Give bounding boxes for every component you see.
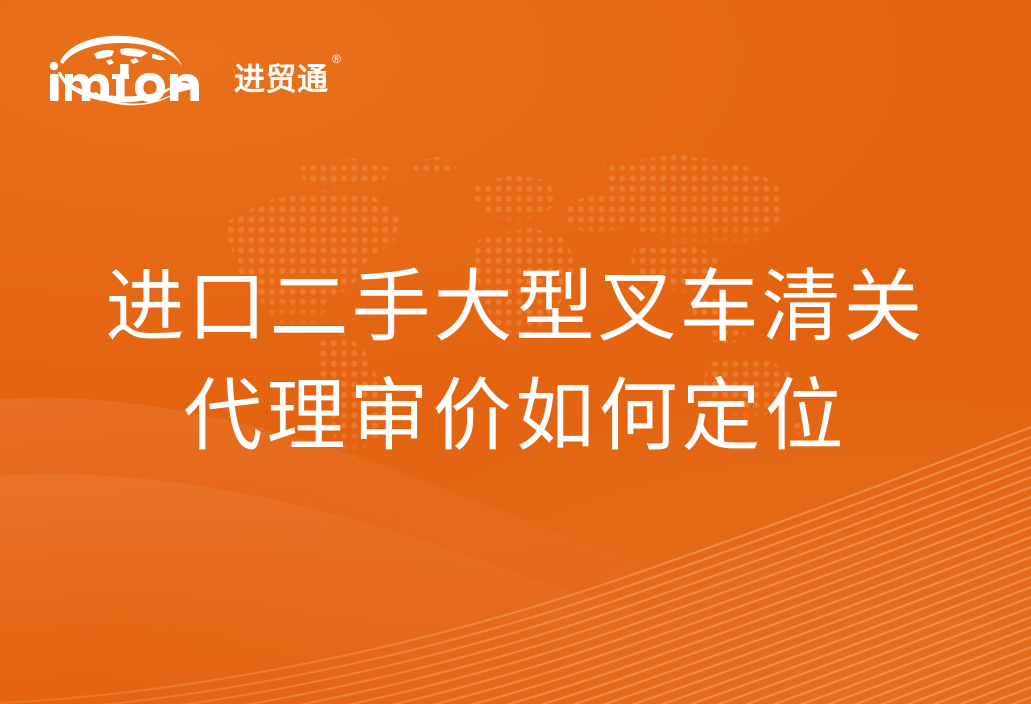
registered-trademark-icon: ®: [332, 53, 341, 65]
brand-logo[interactable]: 进贸通 ®: [42, 32, 329, 104]
globe-swoosh-icon: [42, 32, 232, 104]
brand-chinese-text: 进贸通: [234, 62, 329, 97]
promo-banner: 进贸通 ® 进口二手大型叉车清关 代理审价如何定位: [0, 0, 1031, 704]
brand-chinese-name: 进贸通 ®: [234, 64, 329, 95]
world-map-dot-pattern: [205, 132, 825, 472]
